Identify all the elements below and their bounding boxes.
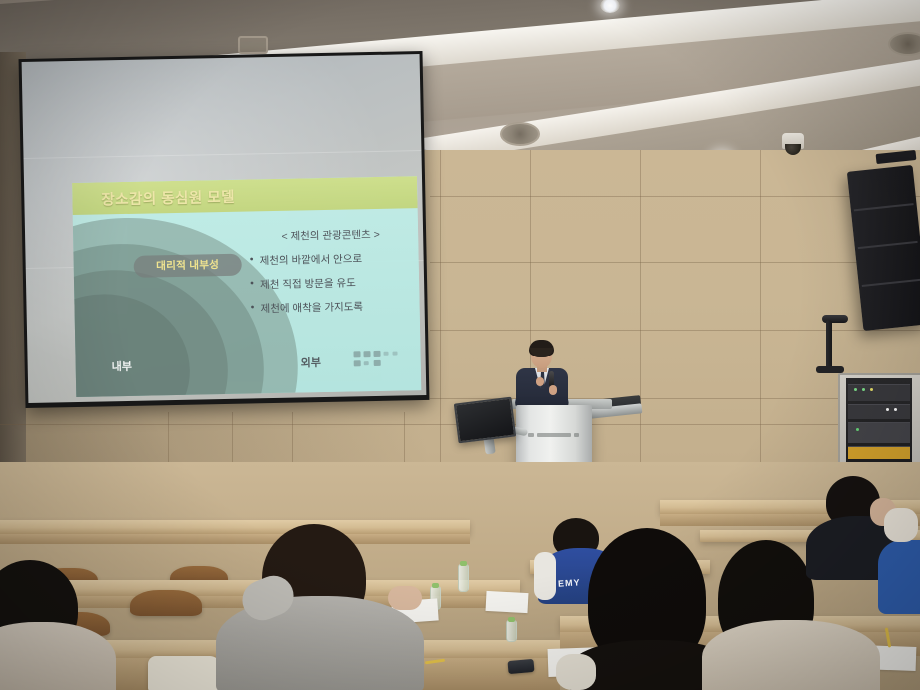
chair[interactable]: [130, 590, 202, 616]
panel-seam: [640, 150, 641, 470]
podium-brand-logo-icon: [528, 433, 580, 441]
jacket-lettering: EMY: [558, 577, 581, 589]
slide-pill-label: 대리적 내부성: [134, 254, 242, 278]
person-shoulder: [884, 508, 918, 542]
speaker-hair: [529, 340, 554, 356]
slide-logo-icon: [353, 351, 399, 368]
desk-front: [0, 534, 470, 544]
water-bottle[interactable]: [458, 564, 469, 592]
slide-bullet-text: 제천에 애착을 가지도록: [260, 298, 419, 316]
slide-bullet-text: 제천의 바깥에서 안으로: [259, 250, 418, 268]
speaker-hand-left: [536, 377, 544, 386]
person-torso: [702, 620, 880, 690]
air-vent: [500, 122, 540, 146]
gooseneck-lamp: [826, 320, 832, 370]
slide-pill-text: 대리적 내부성: [134, 257, 242, 274]
panel-seam: [440, 150, 441, 470]
slide-bullet-text: 제천 직접 방문을 유도: [260, 274, 419, 292]
speaker-hand-right: [549, 385, 557, 395]
projection-screen-frame: 장소감의 동심원 모델 대리적 내부성 < 제천의 관광콘텐츠 > • 제천의 …: [19, 51, 430, 408]
person-hand: [388, 586, 422, 610]
tote-bag[interactable]: [148, 656, 220, 690]
panel-seam: [430, 196, 920, 197]
slide-bullet-item: • 제천에 애착을 가지도록: [244, 298, 419, 317]
panel-seam: [430, 262, 920, 263]
slide-bullet-item: • 제천의 바깥에서 안으로: [243, 250, 418, 269]
person-sleeve: [534, 552, 556, 600]
ceiling-dome-camera-icon: [782, 133, 804, 149]
smartphone[interactable]: [507, 659, 534, 674]
panel-seam: [760, 150, 761, 470]
slide-bullet-block: < 제천의 관광콘텐츠 > • 제천의 바깥에서 안으로 • 제천 직접 방문을…: [243, 226, 420, 325]
lecture-hall-photo: 장소감의 동심원 모델 대리적 내부성 < 제천의 관광콘텐츠 > • 제천의 …: [0, 0, 920, 690]
person-shoulder: [556, 654, 596, 690]
slide-bullet-item: • 제천 직접 방문을 유도: [244, 274, 419, 293]
slide-label-inner: 내부: [112, 358, 133, 374]
air-vent: [888, 32, 920, 56]
gooseneck-lamp-base: [816, 366, 844, 373]
panel-seam: [430, 330, 920, 331]
projected-slide: 장소감의 동심원 모델 대리적 내부성 < 제천의 관광콘텐츠 > • 제천의 …: [72, 176, 421, 397]
desk-row-far: [0, 520, 470, 534]
projection-screen: 장소감의 동심원 모델 대리적 내부성 < 제천의 관광콘텐츠 > • 제천의 …: [22, 54, 427, 403]
slide-label-outer: 외부: [301, 354, 322, 370]
paper-sheet[interactable]: [486, 591, 529, 613]
person-torso: [878, 540, 920, 614]
water-bottle[interactable]: [506, 620, 517, 642]
slide-title: 장소감의 동심원 모델: [101, 186, 235, 210]
bullet-marker-icon: •: [243, 253, 259, 265]
bullet-marker-icon: •: [244, 277, 260, 289]
slide-bullets-heading: < 제천의 관광콘텐츠 >: [243, 226, 418, 245]
bullet-marker-icon: •: [244, 301, 260, 313]
confidence-monitor: [454, 397, 516, 444]
air-vent: [238, 36, 268, 54]
